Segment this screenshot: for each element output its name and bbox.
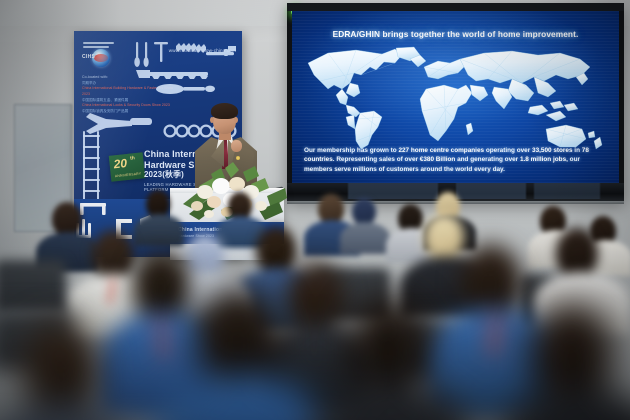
anniversary-suffix: th <box>130 155 135 161</box>
audience-head <box>256 226 296 274</box>
audience-shoulders <box>340 222 390 254</box>
anniversary-number: 20 <box>113 156 128 171</box>
chair-back <box>0 260 66 312</box>
poster-tool-icons-top <box>130 40 238 98</box>
allen-key-icon <box>154 42 168 62</box>
audience-head <box>196 286 280 390</box>
screwdriver-icon <box>134 42 140 67</box>
presenter-ear-left <box>210 117 214 123</box>
presenter-hand <box>231 140 242 152</box>
slide-body-text: Our membership has grown to 227 home cen… <box>304 146 607 174</box>
audience-head <box>52 202 82 236</box>
audience-head <box>92 230 134 280</box>
conference-photo: CIHS www.hardwareshow-china.com Co-locat… <box>0 0 630 420</box>
low-poly-world-map <box>298 45 614 151</box>
tv-bezel-top <box>287 3 624 11</box>
hand-saw-icon <box>136 70 208 79</box>
cihs-logo: CIHS <box>82 42 118 68</box>
audience-head <box>424 214 464 260</box>
audience-shoulders <box>134 214 184 246</box>
presenter-ear-right <box>234 117 238 123</box>
trowel-icon <box>156 84 215 94</box>
audience-head <box>352 198 376 225</box>
presentation-slide: EDRA/GHIN brings together the world of h… <box>292 11 619 183</box>
seated-audience <box>0 190 630 420</box>
audience-head <box>348 296 428 396</box>
audience-head <box>556 228 598 278</box>
pipe-wrench-icon <box>206 46 236 56</box>
anniversary-badge: 20 th ANNIVERSARY <box>109 152 146 181</box>
lapel-pin-icon <box>236 156 240 160</box>
drill-bit-icon <box>176 43 206 53</box>
slide-title: EDRA/GHIN brings together the world of h… <box>292 29 619 39</box>
chisel-icon <box>144 42 149 67</box>
wall-mounted-display[interactable]: EDRA/GHIN brings together the world of h… <box>287 3 624 201</box>
anniversary-caption: ANNIVERSARY <box>115 172 142 179</box>
cihs-logo-label: CIHS <box>82 54 95 60</box>
